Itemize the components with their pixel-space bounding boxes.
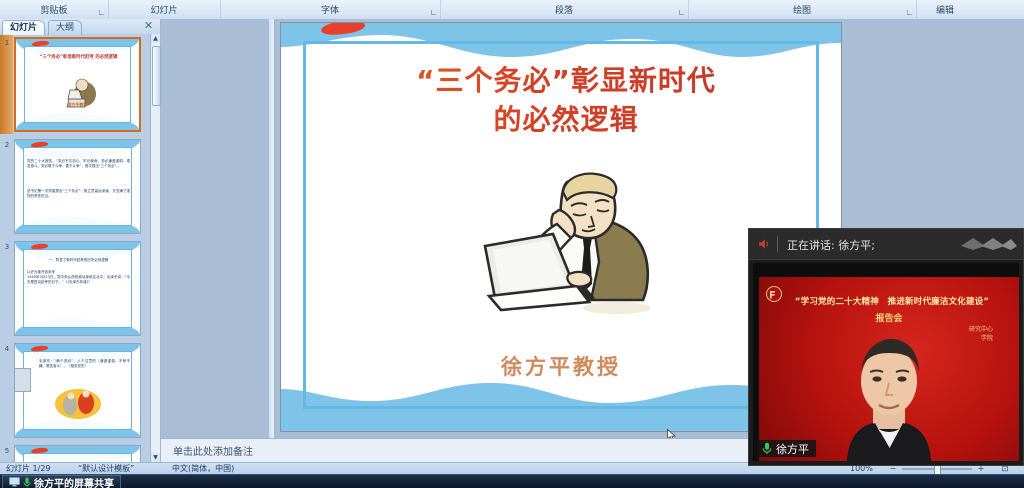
list-item[interactable]: 2 党的二十大报告，“务必不忘初心、牢记使命，务必谦虚谨慎、艰苦奋斗，务必敢于斗… [14, 139, 141, 234]
video-conference-panel[interactable]: 正在讲话: 徐方平; “学习党的二十大精神 推进新时代廉洁文化建设” 报告会 研… [748, 228, 1024, 466]
microphone-icon [762, 442, 772, 455]
scrollbar-thumb[interactable] [152, 46, 161, 106]
tab-outline[interactable]: 大纲 [48, 20, 82, 35]
video-background: “学习党的二十大精神 推进新时代廉洁文化建设” 报告会 研究中心 学院 [759, 277, 1019, 461]
window-controls-icon[interactable] [959, 235, 1017, 253]
video-panel-header[interactable]: 正在讲话: 徐方平; [749, 229, 1023, 260]
close-icon[interactable]: ✕ [143, 20, 154, 32]
ribbon-group-editing-label: 编辑 [936, 6, 954, 19]
list-item[interactable]: 3 一、彰显了新时代赶考的历史必然逻辑 以史为鉴开创未来 1949年3月23日，… [14, 241, 141, 336]
thumbnail-body-highlight: 总书记第一次郑重提出“三个务必”，既立意高远深邃，又充满了强烈的责任担当。 [27, 189, 130, 199]
thumbnail-number: 5 [2, 447, 12, 455]
ribbon-group-clipboard[interactable]: 剪贴板 [0, 0, 109, 19]
tab-slides[interactable]: 幻灯片 [2, 20, 45, 35]
thumbnail-body: 以史为鉴开创未来 1949年3月23日，党中央从西柏坡动身前往北平。毛泽东说：“… [27, 270, 130, 285]
video-banner-subtitle: 报告会 [759, 311, 1019, 324]
header-divider [777, 236, 778, 252]
ribbon-group-paragraph-label: 段落 [555, 6, 573, 19]
thumbnail-slide-2[interactable]: 党的二十大报告，“务必不忘初心、牢记使命，务必谦虚谨慎、艰苦奋斗，务必敢于斗争、… [14, 139, 141, 234]
slide-title-line1: “三个务必”彰显新时代 [331, 61, 801, 100]
taskbar: 徐方平的屏幕共享 [0, 474, 1024, 488]
thumbnail-tooltip [14, 368, 31, 392]
participant-name: 徐方平 [776, 441, 809, 457]
monitor-icon [9, 477, 20, 487]
slide-title-line2: 的必然逻辑 [331, 100, 801, 139]
dialog-launcher-icon[interactable] [678, 9, 685, 16]
ribbon-group-paragraph[interactable]: 段落 [440, 0, 689, 19]
thumbnail-slide-3[interactable]: 一、彰显了新时代赶考的历史必然逻辑 以史为鉴开创未来 1949年3月23日，党中… [14, 241, 141, 336]
thumbnail-slide-4[interactable]: 毛泽东：“两个务必”、八个注意的（谦虚谨慎、不骄不躁、艰苦奋斗）。（相关党史） [14, 343, 141, 438]
list-item[interactable]: 5 [14, 445, 141, 462]
ribbon-group-drawing[interactable]: 绘图 [688, 0, 917, 19]
dialog-launcher-icon[interactable] [98, 9, 105, 16]
ribbon-group-drawing-label: 绘图 [793, 6, 811, 19]
thumbnail-scrollbar[interactable]: ▲ ▼ [150, 34, 160, 462]
businessman-thinking-icon [449, 168, 681, 318]
panel-tab-row: 幻灯片 大纲 ✕ [0, 19, 160, 34]
ribbon-group-clipboard-label: 剪贴板 [40, 6, 67, 19]
dialog-launcher-icon[interactable] [906, 9, 913, 16]
thumbnail-subtitle: 徐方平教授 [16, 102, 139, 108]
thumbnail-body: 党的二十大报告，“务必不忘初心、牢记使命，务必谦虚谨慎、艰苦奋斗，务必敢于斗争、… [27, 159, 130, 169]
list-item[interactable]: 1 “三个务必”彰显新时代赶考 的必然逻辑 [14, 37, 141, 132]
scroll-up-icon[interactable]: ▲ [151, 34, 160, 43]
participant-name-bar: 徐方平 [757, 440, 816, 457]
ribbon-bar: 剪贴板 幻灯片 字体 段落 绘图 编辑 [0, 0, 1024, 20]
microphone-icon [23, 477, 31, 488]
thumbnail-number: 2 [2, 141, 12, 149]
ribbon-group-slides[interactable]: 幻灯片 [108, 0, 221, 19]
slide-title: “三个务必”彰显新时代 的必然逻辑 [331, 61, 801, 139]
ribbon-group-font[interactable]: 字体 [220, 0, 441, 19]
thumbnail-slide-5[interactable] [14, 445, 141, 462]
speaker-icon [757, 237, 771, 251]
vertical-divider [269, 19, 275, 438]
video-side-text-line2: 学院 [969, 334, 993, 343]
thumbnail-heading: 一、彰显了新时代赶考的历史必然逻辑 [27, 258, 130, 263]
video-stream-area[interactable]: “学习党的二十大精神 推进新时代廉洁文化建设” 报告会 研究中心 学院 [753, 263, 1019, 461]
thumbnail-heading: 毛泽东：“两个务必”、八个注意的（谦虚谨慎、不骄不躁、艰苦奋斗）。（相关党史） [39, 359, 130, 369]
taskbar-item-screen-share[interactable]: 徐方平的屏幕共享 [2, 475, 121, 488]
thumbnail-number: 4 [2, 345, 12, 353]
thumbnail-number: 1 [2, 39, 12, 47]
cartoon-illustration-icon [52, 386, 104, 420]
video-banner-text: “学习党的二十大精神 推进新时代廉洁文化建设” [773, 295, 1011, 307]
video-side-text: 研究中心 学院 [969, 325, 993, 343]
thumbnail-number: 3 [2, 243, 12, 251]
list-item[interactable]: 4 毛泽东：“两个务必”、八个注意的（谦虚谨慎、不骄不躁、艰苦奋斗）。（相关党史… [14, 343, 141, 438]
ribbon-group-font-label: 字体 [321, 6, 339, 19]
dialog-launcher-icon[interactable] [430, 9, 437, 16]
ribbon-group-editing[interactable]: 编辑 [916, 0, 974, 19]
taskbar-item-label: 徐方平的屏幕共享 [34, 475, 114, 488]
video-side-text-line1: 研究中心 [969, 325, 993, 334]
participant-video-image [829, 329, 949, 461]
thumbnail-slide-1[interactable]: “三个务必”彰显新时代赶考 的必然逻辑 徐方平教授 [14, 37, 141, 132]
slide-thumbnail-panel: 幻灯片 大纲 ✕ 1 “三个务必”彰显新时代赶考 的必然逻辑 [0, 19, 161, 462]
slide-frame [23, 453, 132, 462]
screen-share-window: 剪贴板 幻灯片 字体 段落 绘图 编辑 幻灯片 大纲 ✕ [0, 0, 1024, 488]
scroll-down-icon[interactable]: ▼ [151, 453, 160, 462]
thumbnail-list[interactable]: 1 “三个务必”彰显新时代赶考 的必然逻辑 [0, 34, 151, 462]
thumbnail-title: “三个务必”彰显新时代赶考 的必然逻辑 [26, 55, 131, 61]
ribbon-group-slides-label: 幻灯片 [150, 6, 177, 19]
speaking-status-label: 正在讲话: 徐方平; [787, 237, 875, 253]
notes-placeholder: 单击此处添加备注 [173, 443, 253, 458]
